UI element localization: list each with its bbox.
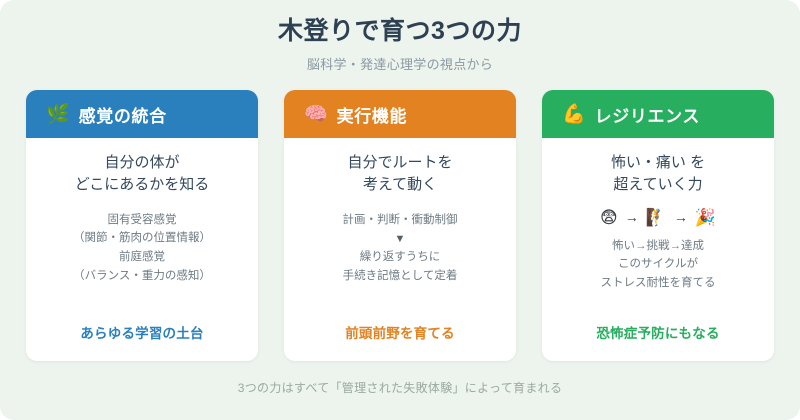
arrow-down-icon: ▼: [395, 234, 406, 245]
card-header-label: 実行機能: [337, 102, 407, 127]
page-subtitle: 脳科学・発達心理学の視点から: [0, 54, 800, 73]
card-body: 自分の体が どこにあるかを知る 固有受容感覚 （関節・筋肉の位置情報） 前庭感覚…: [26, 138, 258, 361]
card-footer-label: 恐怖症予防にもなる: [596, 322, 719, 342]
card-detail-after: 繰り返すうちに 手続き記憶として定着: [343, 248, 458, 285]
detail-line: 繰り返すうちに: [343, 248, 458, 267]
card-header: 💪 レジリエンス: [542, 90, 774, 138]
card-detail: 怖い→挑戦→達成 このサイクルが ストレス耐性を育てる: [601, 237, 716, 293]
lead-line: 自分の体が: [75, 152, 210, 174]
lead-line: どこにあるかを知る: [75, 174, 210, 196]
lead-line: 怖い・痛い を: [611, 152, 705, 174]
person-climbing-icon: 🧗: [646, 209, 667, 226]
detail-line: （関節・筋肉の位置情報）: [73, 229, 211, 248]
brain-icon: 🧠: [304, 105, 328, 124]
detail-line: 固有受容感覚: [73, 211, 211, 230]
card-executive-function[interactable]: 🧠 実行機能 自分でルートを 考えて動く 計画・判断・衝動制御 ▼ 繰り返すうち…: [284, 90, 516, 361]
card-sensory-integration[interactable]: 🌿 感覚の統合 自分の体が どこにあるかを知る 固有受容感覚 （関節・筋肉の位置…: [26, 90, 258, 361]
detail-line: 計画・判断・衝動制御: [343, 211, 458, 230]
detail-line: （バランス・重力の感知）: [73, 267, 211, 286]
card-body: 自分でルートを 考えて動く 計画・判断・衝動制御 ▼ 繰り返すうちに 手続き記憶…: [284, 138, 516, 361]
infographic-panel: 木登りで育つ3つの力 脳科学・発達心理学の視点から 🌿 感覚の統合 自分の体が …: [0, 0, 800, 420]
header: 木登りで育つ3つの力 脳科学・発達心理学の視点から: [0, 0, 800, 73]
arrow-right-icon: →: [674, 210, 688, 224]
card-header-label: 感覚の統合: [79, 102, 167, 127]
card-lead: 自分の体が どこにあるかを知る: [75, 152, 210, 196]
flexed-biceps-icon: 💪: [562, 105, 586, 124]
card-lead: 怖い・痛い を 超えていく力: [611, 152, 705, 196]
party-popper-icon: 🎉: [695, 209, 716, 226]
fearful-face-icon: 😨: [600, 209, 618, 226]
bottom-note: 3つの力はすべて「管理された失敗体験」によって育まれる: [0, 379, 800, 396]
arrow-right-icon: →: [625, 210, 639, 224]
lead-line: 超えていく力: [611, 174, 705, 196]
detail-line: このサイクルが: [601, 255, 716, 274]
card-row: 🌿 感覚の統合 自分の体が どこにあるかを知る 固有受容感覚 （関節・筋肉の位置…: [0, 90, 800, 361]
card-lead: 自分でルートを 考えて動く: [347, 152, 452, 196]
card-detail: 計画・判断・衝動制御: [343, 211, 458, 230]
page-title: 木登りで育つ3つの力: [0, 16, 800, 47]
card-footer-label: あらゆる学習の土台: [80, 322, 203, 342]
card-detail: 固有受容感覚 （関節・筋肉の位置情報） 前庭感覚 （バランス・重力の感知）: [73, 211, 211, 286]
card-header-label: レジリエンス: [595, 102, 700, 127]
detail-line: 怖い→挑戦→達成: [601, 237, 716, 256]
card-header: 🧠 実行機能: [284, 90, 516, 138]
lead-line: 自分でルートを: [347, 152, 452, 174]
herb-leaf-icon: 🌿: [46, 105, 70, 124]
detail-line: ストレス耐性を育てる: [601, 274, 716, 293]
card-resilience[interactable]: 💪 レジリエンス 怖い・痛い を 超えていく力 😨 → 🧗 → 🎉 怖い→挑戦→…: [542, 90, 774, 361]
card-footer-label: 前頭前野を育てる: [345, 322, 455, 342]
card-body: 怖い・痛い を 超えていく力 😨 → 🧗 → 🎉 怖い→挑戦→達成 このサイクル…: [542, 138, 774, 361]
detail-line: 前庭感覚: [73, 248, 211, 267]
emoji-progression: 😨 → 🧗 → 🎉: [600, 209, 716, 226]
lead-line: 考えて動く: [347, 174, 452, 196]
detail-line: 手続き記憶として定着: [343, 267, 458, 286]
card-header: 🌿 感覚の統合: [26, 90, 258, 138]
